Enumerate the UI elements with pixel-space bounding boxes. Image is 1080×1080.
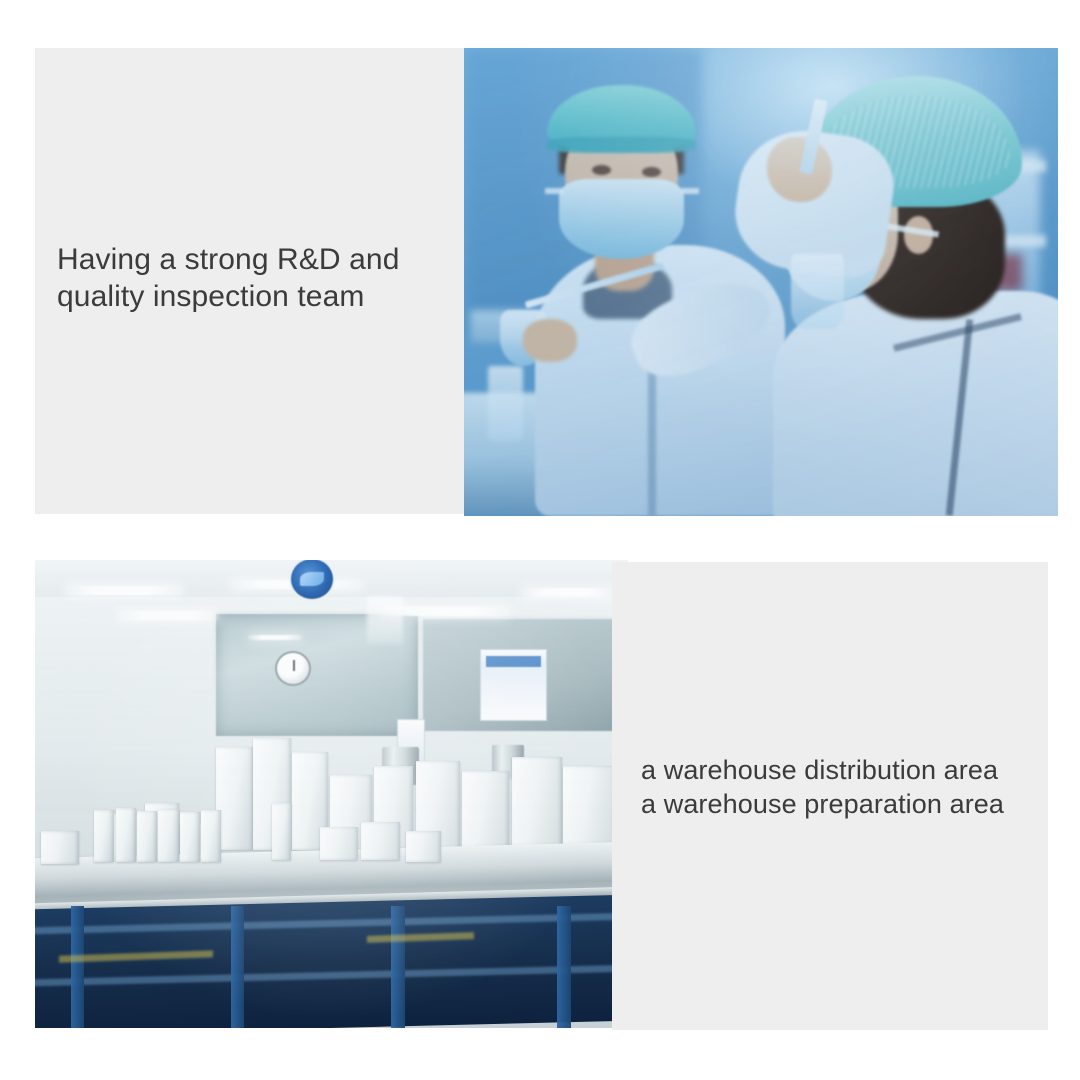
- bottom-caption-panel: a warehouse distribution area a warehous…: [612, 562, 1048, 1030]
- quality-inspection-photo: [464, 48, 1058, 516]
- lab-photo-highlight: [464, 48, 1058, 516]
- warehouse-scene: [35, 560, 628, 1028]
- warehouse-photo: [35, 560, 628, 1028]
- poster-canvas: Having a strong R&D and quality inspecti…: [0, 0, 1080, 1080]
- top-caption-panel: Having a strong R&D and quality inspecti…: [35, 48, 467, 514]
- top-caption-text: Having a strong R&D and quality inspecti…: [57, 241, 457, 315]
- bottom-caption-text: a warehouse distribution area a warehous…: [641, 753, 1051, 821]
- lab-scene: [464, 48, 1058, 516]
- warehouse-photo-highlight: [35, 560, 628, 1028]
